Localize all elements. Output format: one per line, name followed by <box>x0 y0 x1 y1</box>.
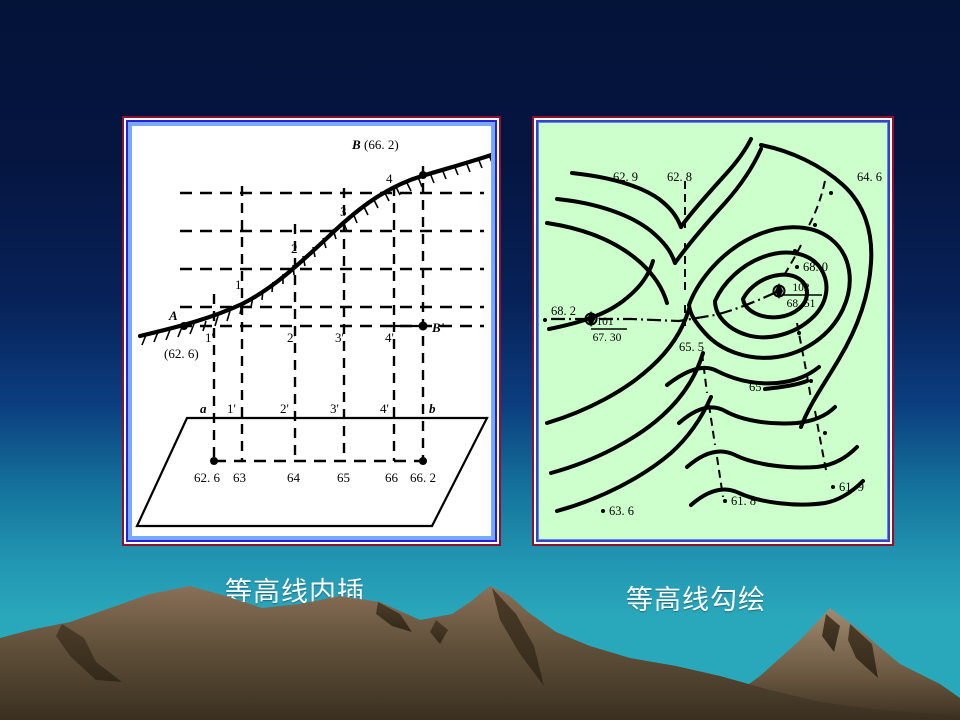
panel-left-border-white: .ln { stroke:#000; fill:none; } .dash { … <box>124 118 499 544</box>
mountain-silhouette <box>0 580 960 720</box>
label-proj-3-prime: 3' <box>335 330 344 345</box>
spot-height-65-5: 65. 5 <box>679 340 704 354</box>
spot-height-61-9: 61. 9 <box>839 480 864 494</box>
cp-101-number: 101 <box>596 316 614 328</box>
panel-right-border-white: .c { stroke:#000; fill:none; stroke-widt… <box>534 118 892 544</box>
label-profile-point-4: 4 <box>386 171 393 186</box>
label-elev-66: 66 <box>385 470 399 485</box>
profile-interpolation-diagram: .ln { stroke:#000; fill:none; } .dash { … <box>132 126 495 540</box>
label-plane-2-prime: 2' <box>280 401 289 416</box>
label-point-a: A <box>168 308 178 323</box>
panel-left-canvas: .ln { stroke:#000; fill:none; } .dash { … <box>128 122 495 540</box>
label-point-a-elevation: (62. 6) <box>164 346 199 361</box>
figure-panel-right: .c { stroke:#000; fill:none; stroke-widt… <box>532 116 894 546</box>
label-point-b-prime: B' <box>431 320 445 335</box>
elevation-plane-lines <box>180 193 484 307</box>
panel-left-border-blue: .ln { stroke:#000; fill:none; } .dash { … <box>126 120 497 542</box>
cp-102-elevation: 68. 51 <box>787 298 816 310</box>
terrain-profile-line <box>140 154 494 345</box>
label-elev-63: 63 <box>233 470 246 485</box>
label-proj-2-prime: 2' <box>287 330 296 345</box>
figure-panel-left: .ln { stroke:#000; fill:none; } .dash { … <box>122 116 501 546</box>
spot-height-64-6: 64. 6 <box>857 170 882 184</box>
spot-height-63-6: 63. 6 <box>609 504 634 518</box>
label-elev-62-6: 62. 6 <box>194 470 221 485</box>
projection-lines <box>214 166 423 461</box>
panel-right-canvas: .c { stroke:#000; fill:none; stroke-widt… <box>538 122 888 540</box>
spot-height-65: 65 <box>749 380 762 394</box>
panel-right-border-blue: .c { stroke:#000; fill:none; stroke-widt… <box>536 120 890 542</box>
spot-height-68-2: 68. 2 <box>551 304 576 318</box>
label-elev-65: 65 <box>337 470 350 485</box>
label-point-b: B <box>351 137 361 152</box>
label-plane-4-prime: 4' <box>380 401 389 416</box>
label-proj-1-prime: 1' <box>205 330 214 345</box>
label-proj-4-prime: 4' <box>385 330 394 345</box>
spot-height-62-9: 62. 9 <box>613 170 638 184</box>
cp-101-elevation: 67. 30 <box>593 332 622 344</box>
label-profile-point-1: 1 <box>235 277 242 292</box>
contour-map-diagram: .c { stroke:#000; fill:none; stroke-widt… <box>539 123 888 540</box>
spot-height-61-8: 61. 8 <box>731 494 756 508</box>
label-plane-b: b <box>429 401 436 416</box>
label-plane-3-prime: 3' <box>330 401 339 416</box>
label-elev-66-2: 66. 2 <box>410 470 436 485</box>
label-point-b-elevation: (66. 2) <box>364 137 399 152</box>
spot-height-68-0: 68. 0 <box>803 260 828 274</box>
cp-102-number: 102 <box>792 282 810 294</box>
label-elev-64: 64 <box>287 470 301 485</box>
baseline-ab-prime: B' <box>180 320 484 335</box>
slide-canvas: .ln { stroke:#000; fill:none; } .dash { … <box>0 0 960 720</box>
spot-height-62-8: 62. 8 <box>667 170 692 184</box>
label-plane-a: a <box>200 401 207 416</box>
label-plane-1-prime: 1' <box>227 401 236 416</box>
